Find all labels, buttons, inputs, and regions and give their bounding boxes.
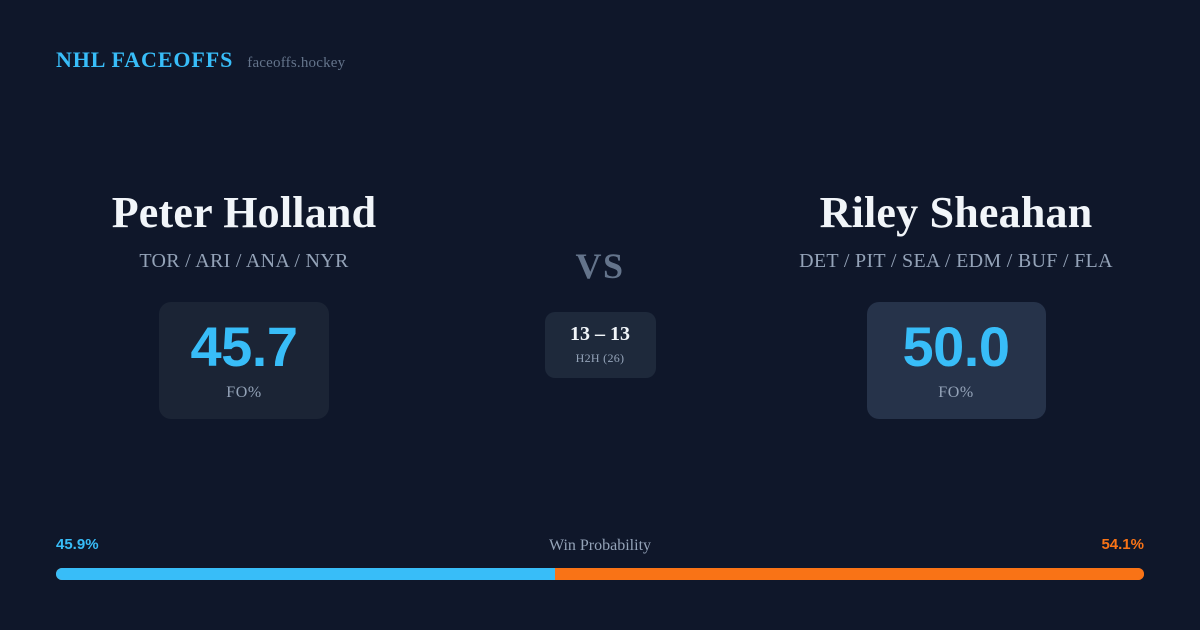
- head-to-head-score: 13 – 13: [570, 324, 630, 344]
- player-right-teams: DET / PIT / SEA / EDM / BUF / FLA: [799, 250, 1113, 273]
- win-probability-section: 45.9% Win Probability 54.1%: [56, 536, 1144, 580]
- player-right-faceoff-pct: 50.0: [903, 319, 1010, 375]
- win-probability-left-value: 45.9%: [56, 536, 99, 553]
- player-left-faceoff-pct: 45.7: [191, 319, 298, 375]
- win-probability-bar-right-fill: [555, 568, 1144, 580]
- header: NHL FACEOFFS faceoffs.hockey: [56, 47, 345, 73]
- versus-column: VS 13 – 13 H2H (26): [488, 190, 712, 378]
- brand-title: NHL FACEOFFS: [56, 47, 233, 73]
- versus-label: VS: [575, 248, 624, 284]
- win-probability-right-value: 54.1%: [1101, 536, 1144, 553]
- player-left-stat-label: FO%: [226, 384, 262, 402]
- faceoff-comparison-card: NHL FACEOFFS faceoffs.hockey Peter Holla…: [0, 0, 1200, 630]
- player-left-stat-card: 45.7 FO%: [159, 302, 329, 419]
- player-right-stat-card: 50.0 FO%: [867, 302, 1046, 419]
- player-left-teams: TOR / ARI / ANA / NYR: [139, 250, 348, 273]
- player-left-name: Peter Holland: [112, 190, 377, 236]
- player-left: Peter Holland TOR / ARI / ANA / NYR 45.7…: [0, 190, 488, 419]
- head-to-head-label: H2H (26): [576, 351, 625, 366]
- win-probability-title: Win Probability: [549, 537, 651, 555]
- win-probability-labels: 45.9% Win Probability 54.1%: [56, 536, 1144, 556]
- win-probability-bar: [56, 568, 1144, 580]
- win-probability-bar-left-fill: [56, 568, 555, 580]
- player-right-name: Riley Sheahan: [820, 190, 1093, 236]
- player-right-stat-label: FO%: [938, 384, 974, 402]
- player-right: Riley Sheahan DET / PIT / SEA / EDM / BU…: [712, 190, 1200, 419]
- matchup-row: Peter Holland TOR / ARI / ANA / NYR 45.7…: [0, 190, 1200, 419]
- site-domain: faceoffs.hockey: [247, 55, 345, 72]
- head-to-head-card: 13 – 13 H2H (26): [545, 312, 656, 378]
